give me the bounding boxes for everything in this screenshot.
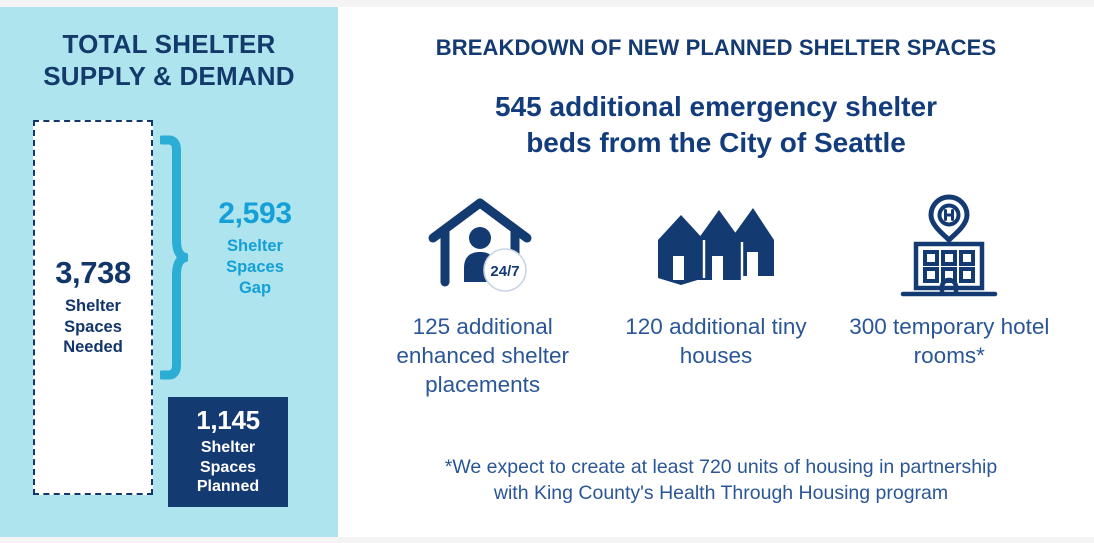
card-enhanced-shelter: 24/7 125 additional enhanced shelter pla… — [366, 193, 599, 399]
needed-label-line-2: Spaces — [63, 317, 123, 338]
breakdown-cards: 24/7 125 additional enhanced shelter pla… — [366, 193, 1066, 399]
panel-title-line-1: TOTAL SHELTER — [0, 29, 338, 61]
gap-number: 2,593 — [190, 199, 320, 229]
planned-label-line-1: Shelter — [197, 438, 259, 458]
breakdown-headline-line-1: 545 additional emergency shelter — [386, 89, 1046, 125]
needed-label-line-1: Shelter — [63, 296, 123, 317]
shelter-house-person-24-7-icon: 24/7 — [427, 193, 539, 299]
footnote-line-1: *We expect to create at least 720 units … — [376, 454, 1066, 480]
supply-demand-panel: TOTAL SHELTER SUPPLY & DEMAND 3,738 Shel… — [0, 7, 338, 537]
planned-label-line-3: Planned — [197, 477, 259, 497]
breakdown-kicker: BREAKDOWN OF NEW PLANNED SHELTER SPACES — [338, 35, 1094, 61]
gap-label: Shelter Spaces Gap — [190, 236, 320, 298]
card-hotel-rooms: 300 temporary hotel rooms* — [833, 193, 1066, 371]
panel-title: TOTAL SHELTER SUPPLY & DEMAND — [0, 29, 338, 92]
infographic-page: TOTAL SHELTER SUPPLY & DEMAND 3,738 Shel… — [0, 0, 1094, 543]
breakdown-headline: 545 additional emergency shelter beds fr… — [386, 89, 1046, 162]
planned-label: Shelter Spaces Planned — [197, 438, 259, 497]
panel-title-line-2: SUPPLY & DEMAND — [0, 61, 338, 93]
breakdown-footnote: *We expect to create at least 720 units … — [376, 454, 1066, 506]
card-tiny-houses: 120 additional tiny houses — [599, 193, 832, 371]
gap-brace-icon — [160, 135, 188, 380]
card-caption-tiny-houses: 120 additional tiny houses — [621, 313, 811, 371]
planned-number: 1,145 — [196, 407, 260, 433]
needed-label: Shelter Spaces Needed — [63, 296, 123, 358]
gap-label-line-2: Spaces — [190, 257, 320, 278]
shelter-spaces-planned-bar: 1,145 Shelter Spaces Planned — [168, 397, 288, 507]
card-caption-enhanced-shelter: 125 additional enhanced shelter placemen… — [374, 313, 592, 399]
breakdown-panel: BREAKDOWN OF NEW PLANNED SHELTER SPACES … — [338, 7, 1094, 537]
shelter-spaces-gap-callout: 2,593 Shelter Spaces Gap — [190, 199, 320, 298]
footnote-line-2: with King County's Health Through Housin… — [376, 480, 1066, 506]
gap-label-line-1: Shelter — [190, 236, 320, 257]
breakdown-headline-line-2: beds from the City of Seattle — [386, 125, 1046, 161]
card-caption-hotel-rooms: 300 temporary hotel rooms* — [845, 313, 1053, 371]
needed-number: 3,738 — [55, 257, 131, 288]
shelter-spaces-needed-bar: 3,738 Shelter Spaces Needed — [33, 120, 153, 495]
gap-label-line-3: Gap — [190, 278, 320, 299]
planned-label-line-2: Spaces — [197, 458, 259, 478]
hotel-building-icon — [895, 193, 1003, 299]
needed-label-line-3: Needed — [63, 337, 123, 358]
bottom-margin-strip — [0, 537, 1094, 543]
top-margin-strip — [0, 0, 1094, 7]
svg-text:24/7: 24/7 — [490, 263, 519, 280]
tiny-houses-icon — [655, 193, 777, 299]
